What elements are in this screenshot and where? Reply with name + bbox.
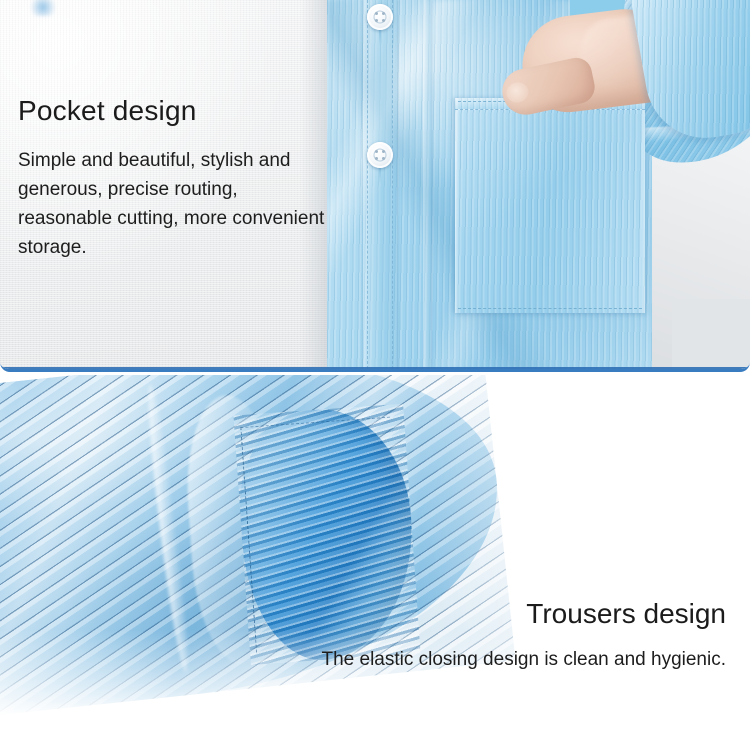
button-hole bbox=[375, 150, 378, 153]
shirt-patch-pocket bbox=[455, 98, 645, 313]
pocket-pinstripe-texture bbox=[455, 98, 645, 313]
button-hole bbox=[382, 19, 385, 22]
button-placket bbox=[363, 0, 397, 369]
button-thread-lower bbox=[379, 168, 381, 184]
button-hole bbox=[382, 150, 385, 153]
pocket-design-title: Pocket design bbox=[18, 94, 318, 128]
shirt-button-upper bbox=[367, 4, 393, 30]
shirt-front-seam bbox=[423, 0, 431, 369]
corner-smudge-decoration bbox=[30, 0, 56, 16]
pocket-stitch-bottom bbox=[458, 308, 642, 309]
button-hole bbox=[375, 12, 378, 15]
button-hole bbox=[375, 157, 378, 160]
trousers-design-title: Trousers design bbox=[306, 597, 726, 631]
placket-stitch-left bbox=[367, 0, 368, 369]
button-hole bbox=[382, 157, 385, 160]
studio-backdrop-corner bbox=[672, 299, 750, 369]
trousers-design-body: The elastic closing design is clean and … bbox=[306, 645, 726, 674]
button-hole bbox=[375, 19, 378, 22]
shirt-pocket-photo bbox=[327, 0, 750, 369]
shirt-button-lower bbox=[367, 142, 393, 168]
pocket-right-edge bbox=[640, 98, 645, 313]
pocket-design-caption: Pocket design Simple and beautiful, styl… bbox=[18, 94, 318, 262]
pocket-left-edge bbox=[455, 98, 460, 313]
pocket-design-body: Simple and beautiful, stylish and genero… bbox=[18, 146, 330, 262]
placket-stitch-right bbox=[392, 0, 393, 369]
trousers-design-panel: Trousers design The elastic closing desi… bbox=[0, 375, 750, 750]
button-hole bbox=[382, 12, 385, 15]
product-detail-page: Pocket design Simple and beautiful, styl… bbox=[0, 0, 750, 750]
button-thread-upper bbox=[379, 30, 381, 46]
pocket-design-panel: Pocket design Simple and beautiful, styl… bbox=[0, 0, 750, 372]
trousers-design-caption: Trousers design The elastic closing desi… bbox=[306, 597, 726, 674]
